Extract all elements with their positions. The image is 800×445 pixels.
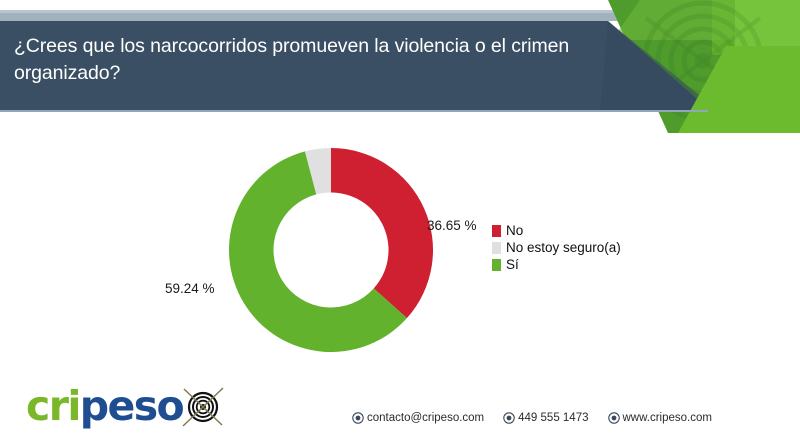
legend-label-no: No (506, 223, 523, 238)
globe-icon (608, 412, 620, 424)
legend-item-no-estoy-seguro[interactable]: No estoy seguro(a) (492, 239, 621, 256)
contact-phone[interactable]: 449 555 1473 (503, 412, 588, 424)
legend-swatch-no (492, 225, 501, 237)
email-icon (352, 412, 364, 424)
donut-slice[interactable] (331, 148, 433, 318)
contact-email[interactable]: contacto@cripeso.com (352, 412, 484, 424)
header-green-shape-corner (735, 0, 800, 48)
logo-text-peso: peso (80, 386, 183, 427)
donut-svg (229, 148, 433, 352)
footer-contact-list: contacto@cripeso.com 449 555 1473 www.cr… (352, 412, 712, 424)
legend-label-no-estoy-seguro: No estoy seguro(a) (506, 240, 621, 255)
chart-legend: No No estoy seguro(a) Sí (492, 222, 621, 273)
legend-item-no[interactable]: No (492, 222, 621, 239)
data-label-no: 36.65 % (427, 218, 477, 233)
slide-footer: cri peso conta (0, 370, 800, 445)
legend-item-si[interactable]: Sí (492, 256, 621, 273)
legend-label-si: Sí (506, 257, 519, 272)
contact-phone-text: 449 555 1473 (518, 412, 588, 424)
contact-website[interactable]: www.cripeso.com (608, 412, 712, 424)
cripeso-logo: cri peso (26, 382, 226, 430)
contact-website-text: www.cripeso.com (623, 412, 712, 424)
logo-text-cri: cri (26, 386, 80, 427)
slide: ¿Crees que los narcocorridos promueven l… (0, 0, 800, 445)
phone-icon (503, 412, 515, 424)
page-title: ¿Crees que los narcocorridos promueven l… (14, 33, 614, 87)
target-radar-icon (180, 384, 226, 430)
donut-chart (229, 148, 433, 352)
contact-email-text: contacto@cripeso.com (367, 412, 484, 424)
legend-swatch-si (492, 259, 501, 271)
data-label-si: 59.24 % (165, 281, 215, 296)
chart-area: 36.65 % 59.24 % No No estoy seguro(a) Sí (0, 112, 800, 370)
legend-swatch-no-estoy-seguro (492, 242, 501, 254)
